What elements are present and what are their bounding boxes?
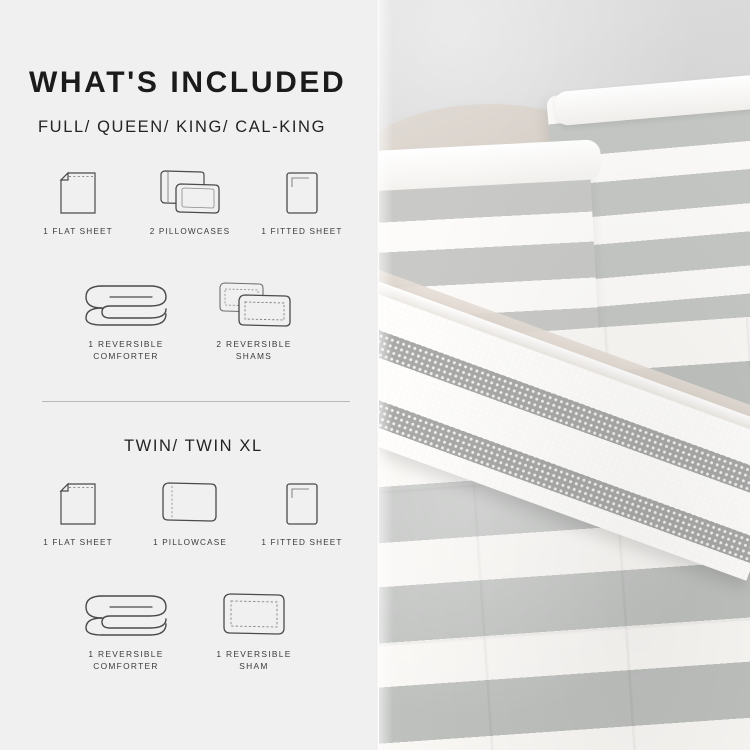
- list-item-label: 1 FLAT SHEET: [43, 226, 112, 238]
- product-info-graphic: WHAT'S INCLUDED FULL/ QUEEN/ KING/ CAL-K…: [0, 0, 750, 750]
- list-item-comforter-full: 1 REVERSIBLE COMFORTER: [62, 276, 190, 363]
- list-item-label: 1 FITTED SHEET: [261, 226, 342, 238]
- page-title: WHAT'S INCLUDED: [29, 66, 346, 100]
- comforter-folded-icon: [80, 586, 172, 640]
- list-item-comforter-twin: 1 REVERSIBLE COMFORTER: [62, 586, 190, 673]
- comforter-folded-icon: [80, 276, 172, 330]
- section-divider: [42, 401, 350, 402]
- items-row-twin-2: 1 REVERSIBLE COMFORTER 1 REVERSIBLE SHAM: [62, 586, 318, 673]
- whats-included-panel: WHAT'S INCLUDED FULL/ QUEEN/ KING/ CAL-K…: [0, 0, 379, 750]
- fitted-sheet-icon: [282, 474, 322, 528]
- list-item-fitted-sheet-full: 1 FITTED SHEET: [246, 163, 358, 238]
- list-item-pillowcase-twin: 1 PILLOWCASE: [134, 474, 246, 549]
- list-item-label: 2 PILLOWCASES: [150, 226, 230, 238]
- items-row-full-2: 1 REVERSIBLE COMFORTER 2 REVERSIBLE SHAM…: [62, 276, 318, 363]
- shams-pair-icon: [215, 276, 293, 330]
- list-item-label: 1 FITTED SHEET: [261, 537, 342, 549]
- list-item-label: 1 REVERSIBLE COMFORTER: [88, 339, 163, 363]
- items-row-twin-1: 1 FLAT SHEET 1 PILLOWCASE: [22, 474, 358, 549]
- list-item-label: 1 PILLOWCASE: [153, 537, 227, 549]
- list-item-pillowcases-full: 2 PILLOWCASES: [134, 163, 246, 238]
- list-item-label: 2 REVERSIBLE SHAMS: [216, 339, 291, 363]
- list-item-flat-sheet-twin: 1 FLAT SHEET: [22, 474, 134, 549]
- list-item-label: 1 REVERSIBLE SHAM: [216, 649, 291, 673]
- list-item-label: 1 REVERSIBLE COMFORTER: [88, 649, 163, 673]
- list-item-shams-full: 2 REVERSIBLE SHAMS: [190, 276, 318, 363]
- list-item-flat-sheet-full: 1 FLAT SHEET: [22, 163, 134, 238]
- pillowcases-pair-icon: [157, 163, 223, 217]
- section-heading-full-queen-king: FULL/ QUEEN/ KING/ CAL-KING: [38, 118, 326, 137]
- items-row-full-1: 1 FLAT SHEET 2 PILLOWCASES: [22, 163, 358, 238]
- flat-sheet-icon: [57, 163, 99, 217]
- list-item-label: 1 FLAT SHEET: [43, 537, 112, 549]
- section-heading-twin: TWIN/ TWIN XL: [124, 437, 263, 456]
- flat-sheet-icon: [57, 474, 99, 528]
- fitted-sheet-icon: [282, 163, 322, 217]
- list-item-fitted-sheet-twin: 1 FITTED SHEET: [246, 474, 358, 549]
- sham-single-icon: [218, 586, 290, 640]
- pillowcase-single-icon: [157, 474, 223, 528]
- product-photo: [379, 0, 750, 750]
- list-item-sham-twin: 1 REVERSIBLE SHAM: [190, 586, 318, 673]
